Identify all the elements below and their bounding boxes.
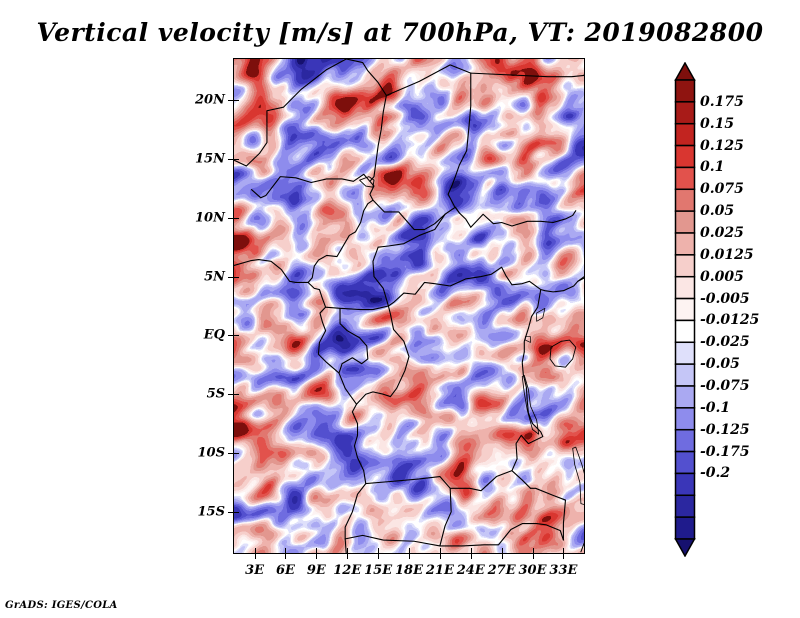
colorbar-tick-label: -0.2 <box>700 465 730 481</box>
x-axis-tick <box>378 553 379 559</box>
x-axis-tick <box>409 553 410 559</box>
colorbar-swatches <box>674 62 696 557</box>
y-axis-tick-label: 20N <box>195 93 225 108</box>
x-axis-tick-label: 18E <box>395 563 423 578</box>
colorbar-tick-label: 0.075 <box>700 181 744 197</box>
colorbar-tick-label: 0.125 <box>700 138 744 154</box>
grads-attribution: GrADS: IGES/COLA <box>5 600 118 611</box>
y-axis-tick <box>234 453 239 454</box>
x-axis-tick <box>533 553 534 559</box>
x-axis-tick <box>255 553 256 559</box>
y-axis-tick <box>234 335 239 336</box>
colorbar-tick-label: -0.125 <box>700 422 750 438</box>
colorbar <box>674 62 696 557</box>
x-axis-tick-label: 6E <box>276 563 295 578</box>
y-axis-tick-label: 15S <box>198 504 225 519</box>
y-axis-tick <box>234 100 239 101</box>
x-axis-tick <box>471 553 472 559</box>
colorbar-tick-label: 0.005 <box>700 269 744 285</box>
colorbar-tick-label: 0.1 <box>700 159 724 175</box>
x-axis-tick <box>316 553 317 559</box>
colorbar-tick-label: -0.005 <box>700 291 750 307</box>
colorbar-tick-label: 0.05 <box>700 203 734 219</box>
x-axis-tick <box>255 548 256 553</box>
x-axis-tick <box>347 548 348 553</box>
x-axis-tick <box>502 548 503 553</box>
x-axis-tick-label: 9E <box>307 563 326 578</box>
map-plot-area: 20N15N10N5NEQ5S10S15S3E6E9E12E15E18E21E2… <box>233 58 585 554</box>
y-axis-tick-label: 5N <box>204 269 225 284</box>
page-title: Vertical velocity [m/s] at 700hPa, VT: 2… <box>0 18 800 47</box>
x-axis-tick <box>440 548 441 553</box>
x-axis-tick <box>471 548 472 553</box>
y-axis-tick <box>234 512 239 513</box>
colorbar-tick-label: -0.1 <box>700 400 730 416</box>
y-axis-tick <box>234 277 239 278</box>
x-axis-tick <box>502 553 503 559</box>
colorbar-tick-label: 0.175 <box>700 94 744 110</box>
x-axis-tick <box>285 553 286 559</box>
colorbar-tick-label: -0.025 <box>700 334 750 350</box>
colorbar-tick-label: 0.025 <box>700 225 744 241</box>
x-axis-tick <box>563 548 564 553</box>
x-axis-tick-label: 12E <box>333 563 361 578</box>
x-axis-tick <box>440 553 441 559</box>
grads-plot-page: Vertical velocity [m/s] at 700hPa, VT: 2… <box>0 0 800 618</box>
x-axis-tick-label: 3E <box>245 563 264 578</box>
x-axis-tick <box>409 548 410 553</box>
y-axis-tick-label: 5S <box>207 387 225 402</box>
x-axis-tick-label: 15E <box>364 563 392 578</box>
colorbar-tick-label: -0.075 <box>700 378 750 394</box>
y-axis-tick-label: 15N <box>195 151 225 166</box>
x-axis-tick <box>563 553 564 559</box>
x-axis-tick <box>285 548 286 553</box>
x-axis-tick-label: 30E <box>519 563 547 578</box>
y-axis-tick <box>234 218 239 219</box>
colorbar-tick-label: -0.175 <box>700 444 750 460</box>
vertical-velocity-field <box>234 59 584 553</box>
colorbar-tick-label: 0.15 <box>700 116 734 132</box>
y-axis-tick <box>234 394 239 395</box>
x-axis-tick-label: 27E <box>488 563 516 578</box>
y-axis-tick-label: EQ <box>204 328 225 343</box>
x-axis-tick <box>347 553 348 559</box>
x-axis-tick-label: 21E <box>426 563 454 578</box>
x-axis-tick <box>533 548 534 553</box>
y-axis-tick <box>234 159 239 160</box>
x-axis-tick <box>316 548 317 553</box>
y-axis-tick-label: 10N <box>195 210 225 225</box>
x-axis-tick-label: 24E <box>457 563 485 578</box>
x-axis-tick-label: 33E <box>549 563 577 578</box>
colorbar-tick-label: 0.0125 <box>700 247 754 263</box>
x-axis-tick <box>378 548 379 553</box>
colorbar-tick-label: -0.05 <box>700 356 740 372</box>
colorbar-tick-label: -0.0125 <box>700 312 759 328</box>
y-axis-tick-label: 10S <box>198 446 225 461</box>
